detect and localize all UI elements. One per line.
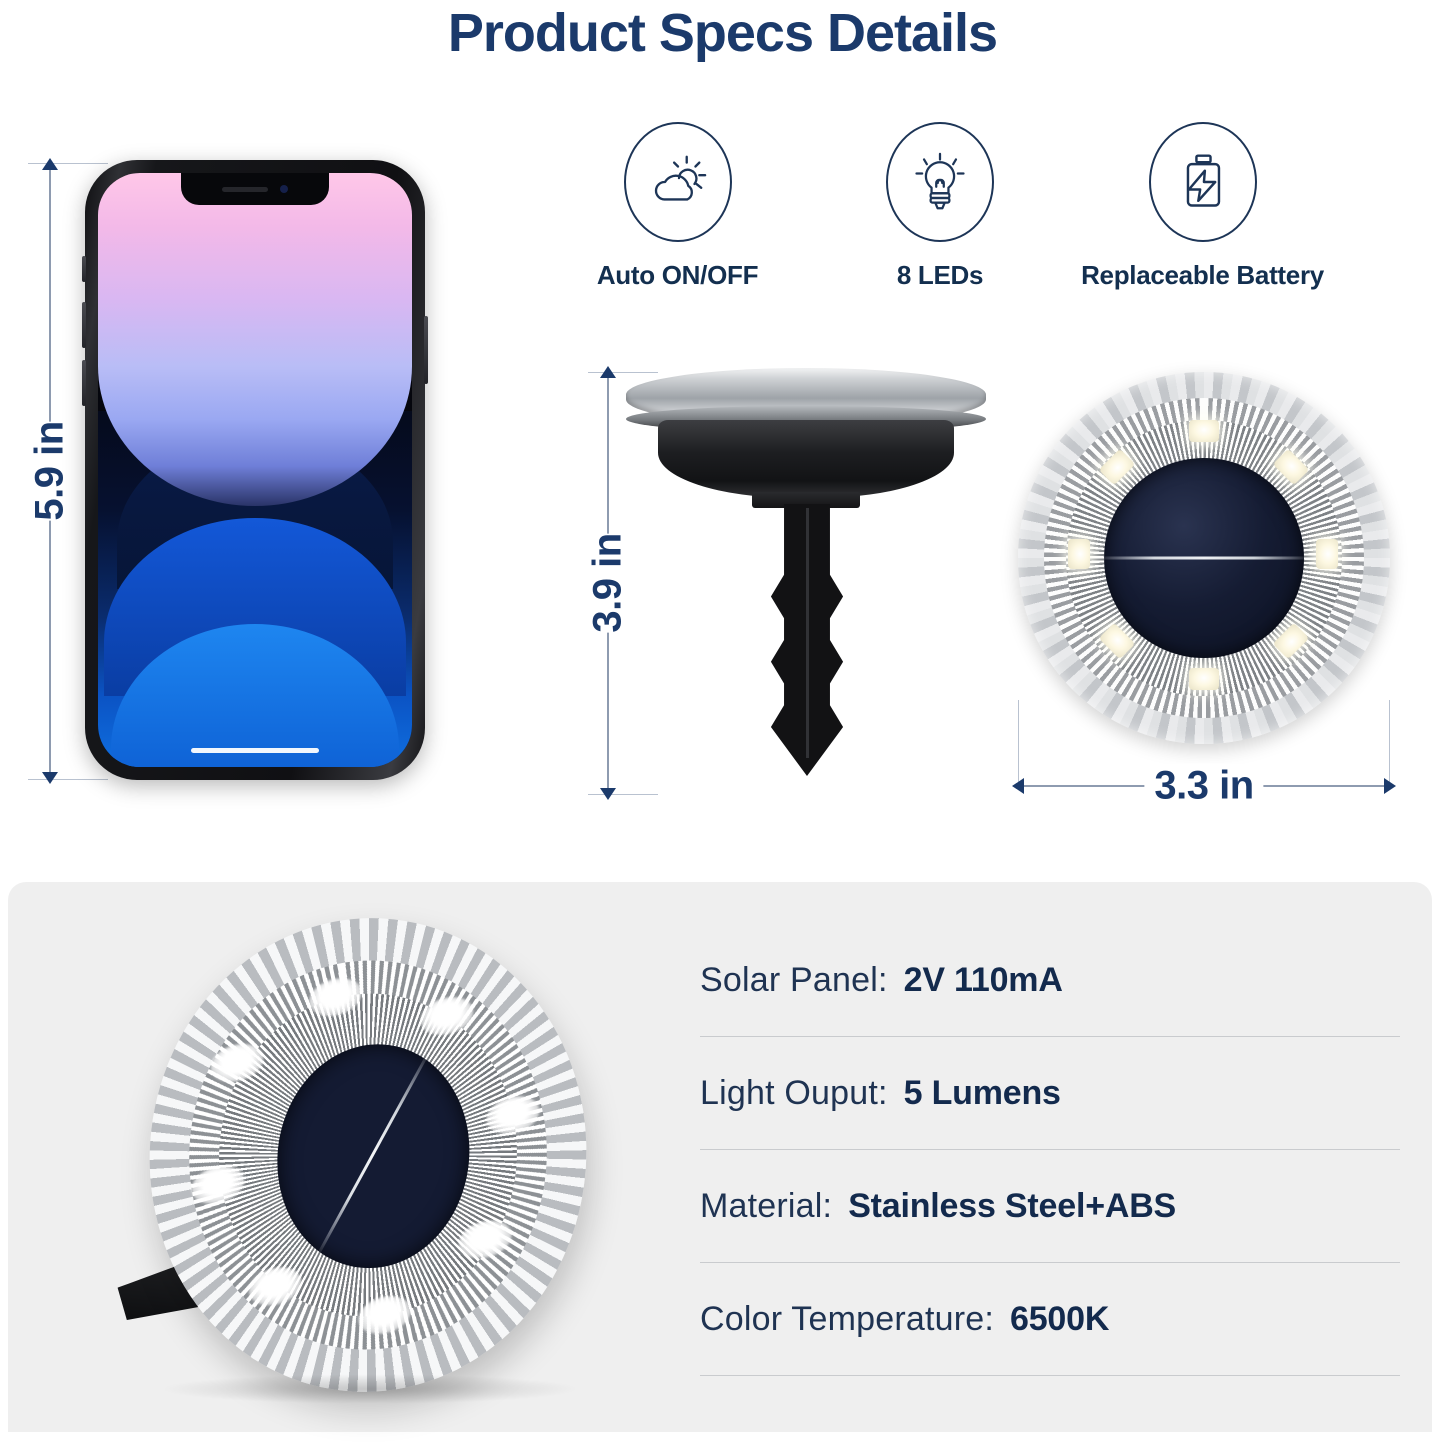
spec-value: 2V 110mA (904, 961, 1063, 1000)
arrow-right-icon (1384, 778, 1396, 794)
hero-drop-shadow (160, 1374, 580, 1404)
sun-cloud-icon (624, 122, 732, 242)
arrow-up-icon (42, 158, 58, 170)
home-indicator (191, 748, 319, 753)
solar-panel (1104, 458, 1305, 659)
dimension-light-diameter: 3.3 in (1012, 766, 1396, 806)
earpiece-speaker (222, 187, 268, 192)
led-module (1068, 539, 1090, 569)
arrow-up-icon (600, 366, 616, 378)
feature-icon-row: Auto ON/OFF 8 LEDs (560, 122, 1320, 292)
feature-label: Auto ON/OFF (597, 260, 758, 291)
spec-row-material: Material: Stainless Steel+ABS (700, 1150, 1400, 1263)
front-camera-icon (280, 185, 288, 193)
phone-power-button (424, 316, 428, 384)
spec-row-color-temperature: Color Temperature: 6500K (700, 1263, 1400, 1376)
solar-panel-busbar (1104, 556, 1305, 559)
dimension-phone-height: 5.9 in (30, 158, 70, 784)
lightbulb-icon (886, 122, 994, 242)
solar-light-side-view-image (620, 368, 992, 798)
spec-value: Stainless Steel+ABS (848, 1187, 1176, 1226)
phone-size-reference-image (85, 160, 425, 780)
battery-bolt-icon (1149, 122, 1257, 242)
dimension-label: 5.9 in (24, 421, 77, 520)
led-module (1189, 668, 1219, 690)
feature-replaceable-battery: Replaceable Battery (1085, 122, 1320, 291)
hero-solar-panel-busbar (314, 1048, 431, 1259)
spec-label: Solar Panel: (700, 961, 888, 1000)
feature-label: 8 LEDs (897, 260, 983, 291)
phone-screen (98, 173, 412, 767)
spec-row-solar-panel: Solar Panel: 2V 110mA (700, 924, 1400, 1037)
spec-label: Color Temperature: (700, 1300, 994, 1339)
hero-stainless-body (106, 868, 629, 1442)
feature-label: Replaceable Battery (1081, 260, 1324, 291)
spec-label: Light Ouput: (700, 1074, 888, 1113)
spec-value: 6500K (1010, 1300, 1109, 1339)
phone-volume-up-button (82, 302, 86, 348)
spec-value: 5 Lumens (904, 1074, 1061, 1113)
arrow-left-icon (1012, 778, 1024, 794)
wallpaper-gradient-top (98, 173, 412, 506)
led-module (1316, 539, 1338, 569)
phone-mute-switch (82, 256, 86, 282)
spec-row-light-output: Light Ouput: 5 Lumens (700, 1037, 1400, 1150)
dimension-label: 3.3 in (1144, 764, 1263, 809)
plastic-housing (658, 420, 954, 498)
arrow-down-icon (600, 788, 616, 800)
spec-label: Material: (700, 1187, 832, 1226)
phone-notch (181, 173, 329, 205)
solar-light-hero-image (120, 910, 610, 1410)
page-title: Product Specs Details (0, 2, 1445, 64)
feature-8-leds: 8 LEDs (823, 122, 1058, 291)
spec-table: Solar Panel: 2V 110mA Light Ouput: 5 Lum… (700, 924, 1400, 1376)
ground-stake-rib (806, 508, 809, 758)
led-module (1189, 420, 1219, 442)
feature-auto-on-off: Auto ON/OFF (560, 122, 795, 291)
spec-panel: Solar Panel: 2V 110mA Light Ouput: 5 Lum… (8, 882, 1432, 1432)
solar-light-top-view-image (1018, 372, 1390, 744)
arrow-down-icon (42, 772, 58, 784)
phone-volume-down-button (82, 360, 86, 406)
phone-body (85, 160, 425, 780)
